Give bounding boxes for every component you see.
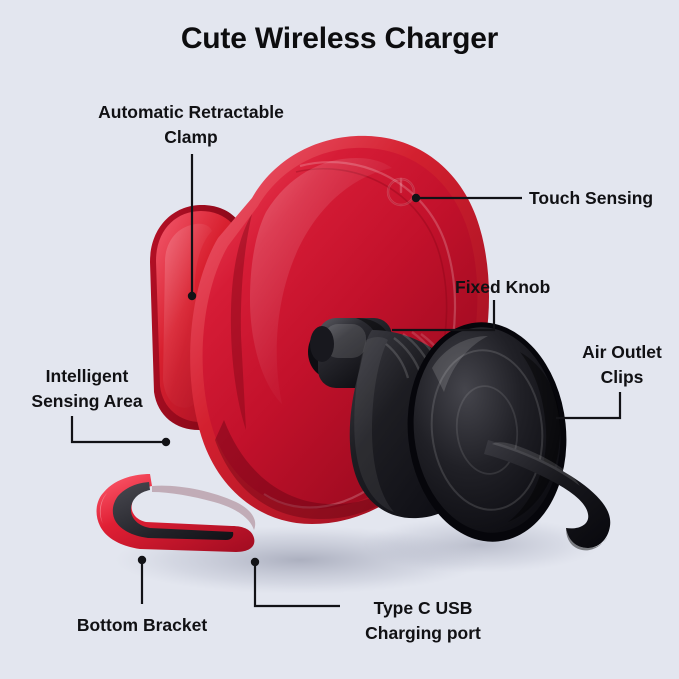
callout-automatic-retractable-clamp: Automatic Retractable Clamp [96,100,286,150]
callout-type-c-usb-charging-port: Type C USB Charging port [339,596,507,646]
callout-intelligent-sensing-area: Intelligent Sensing Area [18,364,156,414]
callout-air-outlet-clips: Air Outlet Clips [566,340,678,390]
callout-bottom-bracket: Bottom Bracket [62,613,222,638]
callout-touch-sensing: Touch Sensing [529,186,679,211]
page-title: Cute Wireless Charger [0,22,679,56]
diagram-canvas: Cute Wireless Charger Automatic Retracta… [0,0,679,679]
callout-fixed-knob: Fixed Knob [455,275,585,300]
